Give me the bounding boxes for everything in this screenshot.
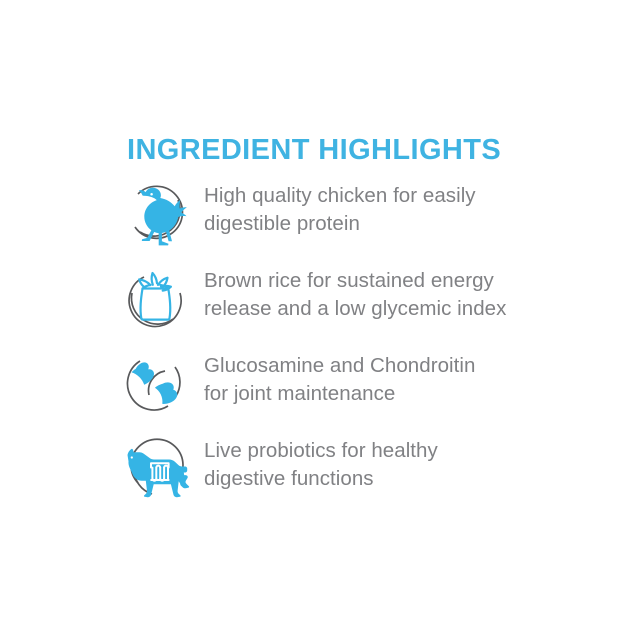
list-item: Brown rice for sustained energy release … — [118, 263, 588, 348]
list-item-line-1: Brown rice for sustained energy — [204, 269, 494, 292]
list-item-line-2: digestive functions — [204, 467, 374, 490]
list-item-line-1: High quality chicken for easily — [204, 184, 476, 207]
list-item: High quality chicken for easily digestib… — [118, 178, 588, 263]
highlights-list: High quality chicken for easily digestib… — [118, 178, 588, 518]
chicken-icon — [118, 178, 194, 250]
list-item-line-1: Live probiotics for healthy — [204, 439, 438, 462]
list-item-line-2: release and a low glycemic index — [204, 297, 506, 320]
bone-joint-icon — [118, 348, 194, 420]
list-item-text: High quality chicken for easily digestib… — [204, 182, 584, 238]
list-item-text: Live probiotics for healthy digestive fu… — [204, 437, 584, 493]
list-item: Glucosamine and Chondroitin for joint ma… — [118, 348, 588, 433]
rice-sack-icon — [118, 263, 194, 335]
page-title: INGREDIENT HIGHLIGHTS — [127, 136, 501, 165]
ingredient-highlights-panel: INGREDIENT HIGHLIGHTS High quality chick… — [0, 0, 640, 640]
list-item-line-2: for joint maintenance — [204, 382, 395, 405]
list-item: Live probiotics for healthy digestive fu… — [118, 433, 588, 518]
list-item-text: Glucosamine and Chondroitin for joint ma… — [204, 352, 584, 408]
list-item-line-2: digestible protein — [204, 212, 360, 235]
dog-digestion-icon — [118, 433, 194, 505]
list-item-text: Brown rice for sustained energy release … — [204, 267, 584, 323]
list-item-line-1: Glucosamine and Chondroitin — [204, 354, 475, 377]
